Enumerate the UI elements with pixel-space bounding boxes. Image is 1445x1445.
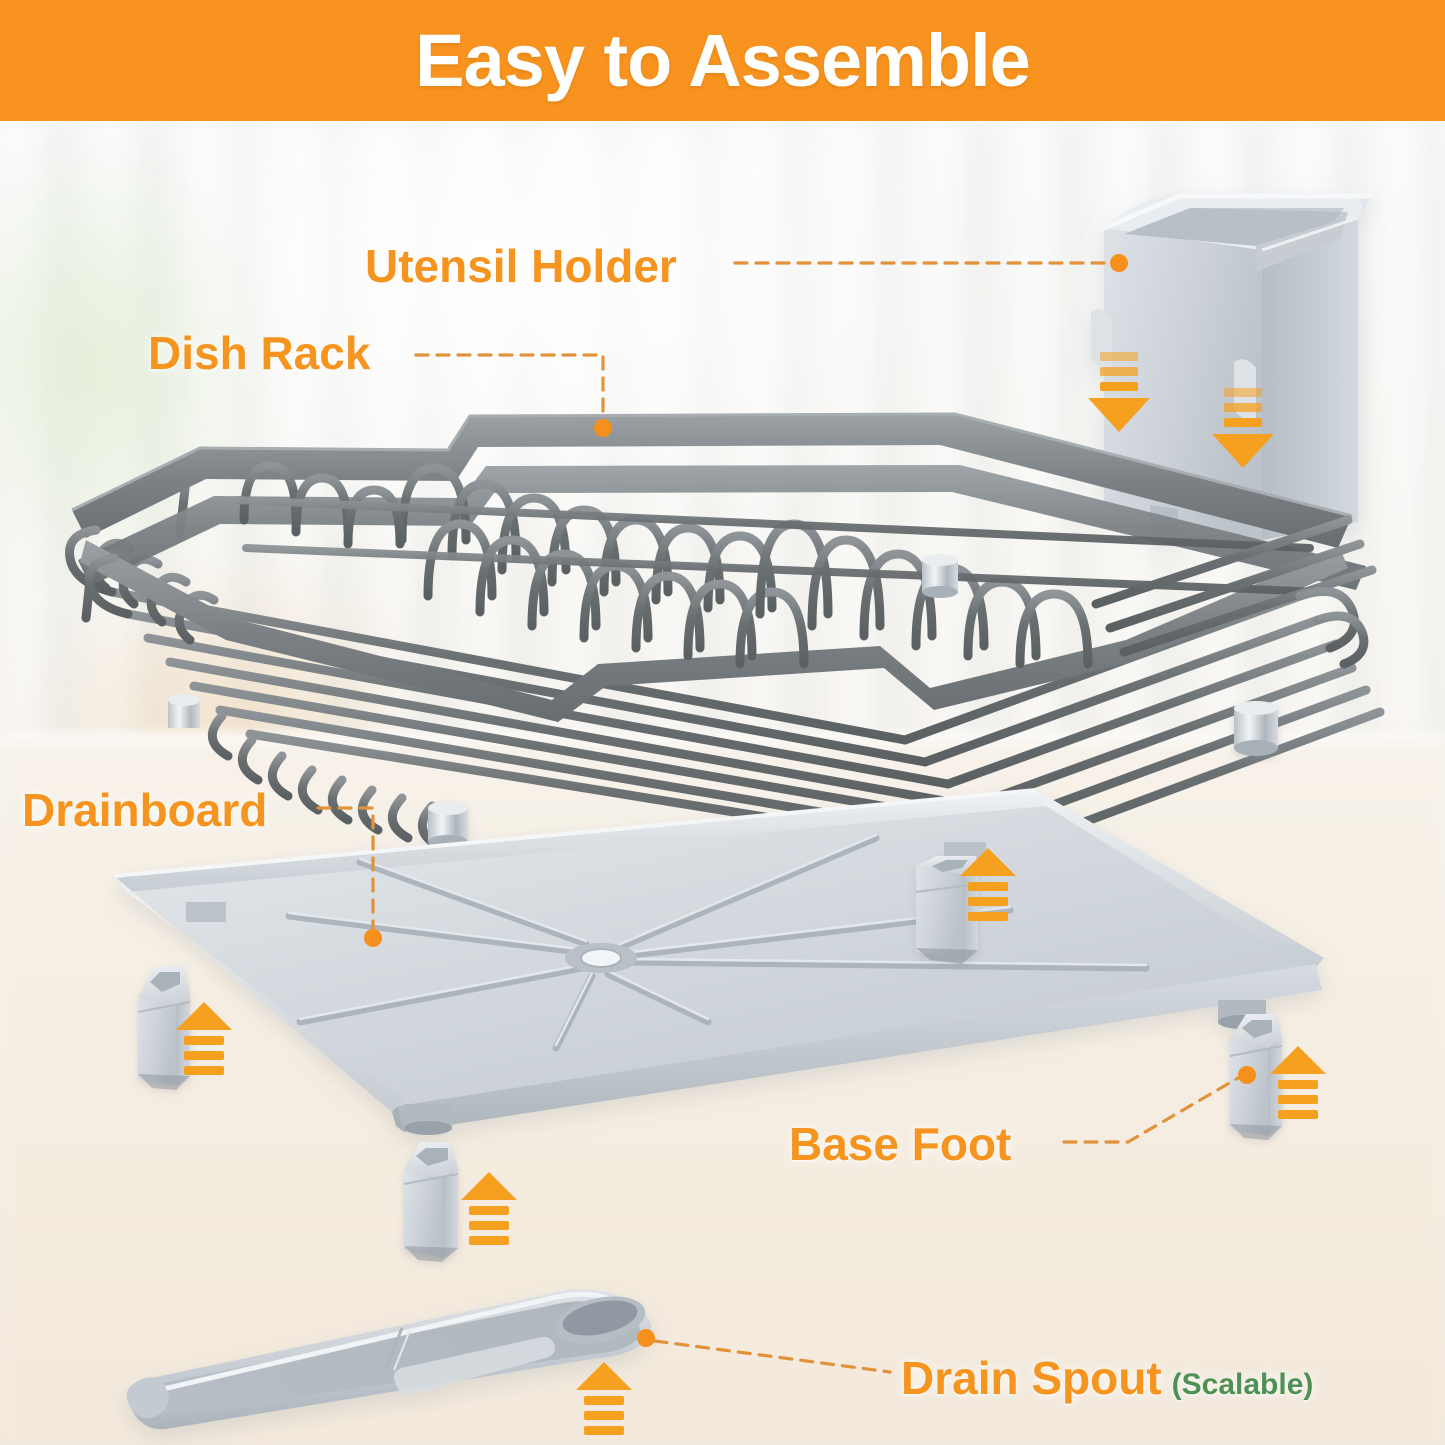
dot-utensil-holder — [1110, 254, 1128, 272]
leader-base-foot — [1064, 1078, 1238, 1142]
dish-rack-foot-back-left — [168, 694, 200, 728]
callout-label-dish-rack: Dish Rack — [148, 330, 370, 376]
callout-label-base-foot: Base Foot — [789, 1121, 1011, 1167]
dish-rack-foot-front-right — [1234, 701, 1278, 756]
drainboard-foot-socket-left — [186, 902, 226, 922]
dish-rack-foot-back-right — [922, 554, 958, 598]
dot-drainboard — [364, 929, 382, 947]
callout-text-drain-spout-scalable: (Scalable) — [1172, 1368, 1314, 1401]
assembly-arrow-drain-spout — [576, 1362, 632, 1435]
infographic-canvas: Easy to Assemble Utensil Holder Dish Rac… — [0, 0, 1445, 1445]
callout-text-drain-spout: Drain Spout — [901, 1352, 1162, 1404]
dot-base-foot — [1238, 1066, 1256, 1084]
callout-text-drainboard: Drainboard — [22, 784, 267, 836]
part-base-foot-center — [404, 1142, 458, 1262]
callout-text-base-foot: Base Foot — [789, 1118, 1011, 1170]
callout-text-dish-rack: Dish Rack — [148, 327, 370, 379]
callout-label-utensil-holder: Utensil Holder — [365, 243, 677, 289]
page-title: Easy to Assemble — [415, 24, 1030, 98]
part-drain-spout — [127, 1289, 652, 1429]
header-banner: Easy to Assemble — [0, 0, 1445, 121]
part-drainboard — [114, 790, 1324, 1135]
callout-label-drainboard: Drainboard — [22, 787, 267, 833]
leader-dish-rack — [416, 355, 603, 420]
callout-text-utensil-holder: Utensil Holder — [365, 240, 677, 292]
callout-label-drain-spout: Drain Spout(Scalable) — [901, 1355, 1313, 1401]
product-illustration — [0, 0, 1445, 1445]
leader-drain-spout — [655, 1341, 890, 1372]
dot-dish-rack — [594, 419, 612, 437]
drainboard-foot-socket-front — [404, 1104, 452, 1135]
assembly-arrow-foot-center — [461, 1172, 517, 1245]
dot-drain-spout — [637, 1329, 655, 1347]
